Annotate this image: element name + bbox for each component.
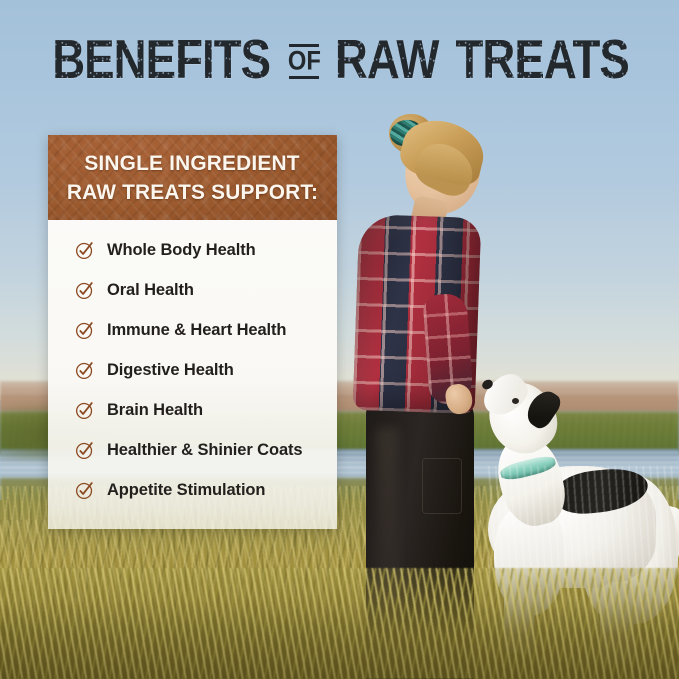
benefit-label: Healthier & Shinier Coats	[107, 440, 303, 460]
check-circle-icon	[75, 441, 94, 460]
benefits-list: Whole Body Health Oral Health Immune & H…	[48, 220, 337, 529]
list-item: Digestive Health	[48, 350, 337, 390]
check-circle-icon	[75, 281, 94, 300]
title-word-treats: TREATS	[456, 33, 629, 88]
benefits-card: SINGLE INGREDIENT RAW TREATS SUPPORT: Wh…	[48, 135, 337, 529]
card-header-line-2: RAW TREATS SUPPORT:	[67, 178, 318, 206]
card-header-line-1: SINGLE INGREDIENT	[85, 149, 300, 177]
check-circle-icon	[75, 481, 94, 500]
check-circle-icon	[75, 361, 94, 380]
card-header: SINGLE INGREDIENT RAW TREATS SUPPORT:	[48, 135, 337, 220]
title-word-benefits: BENEFITS	[52, 33, 270, 88]
title-word-raw: RAW	[335, 33, 439, 88]
list-item: Whole Body Health	[48, 230, 337, 270]
benefit-label: Whole Body Health	[107, 240, 256, 260]
title-word-of: OF	[287, 44, 322, 79]
grass-bottom-shadow	[0, 600, 679, 679]
benefit-label: Appetite Stimulation	[107, 480, 265, 500]
list-item: Healthier & Shinier Coats	[48, 430, 337, 470]
list-item: Oral Health	[48, 270, 337, 310]
dog-eye	[512, 398, 519, 404]
check-circle-icon	[75, 321, 94, 340]
infographic-poster: BENEFITS OF RAW TREATS SINGLE INGREDIENT…	[0, 0, 679, 679]
check-circle-icon	[75, 241, 94, 260]
list-item: Immune & Heart Health	[48, 310, 337, 350]
benefit-label: Brain Health	[107, 400, 203, 420]
benefit-label: Immune & Heart Health	[107, 320, 286, 340]
benefit-label: Oral Health	[107, 280, 194, 300]
benefit-label: Digestive Health	[107, 360, 234, 380]
poster-title: BENEFITS OF RAW TREATS	[0, 36, 679, 85]
list-item: Appetite Stimulation	[48, 470, 337, 510]
check-circle-icon	[75, 401, 94, 420]
title-of-text: OF	[288, 46, 321, 77]
list-item: Brain Health	[48, 390, 337, 430]
